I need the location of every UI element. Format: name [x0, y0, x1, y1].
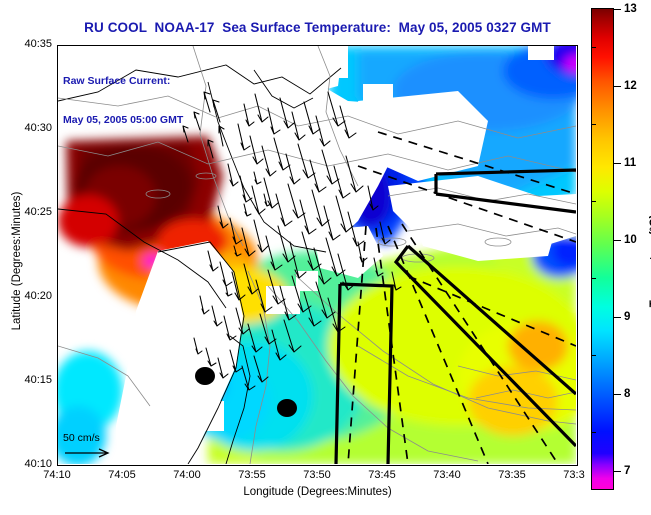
- x-tick-7: 73:35: [498, 469, 526, 481]
- x-tick-1: 74:05: [108, 469, 136, 481]
- colorbar-minor-tick-3: [591, 201, 596, 202]
- temperature-colorbar[interactable]: [591, 8, 614, 490]
- y-tick-2-text: 40:25: [24, 206, 52, 218]
- sst-raster-and-overlays: [58, 46, 576, 464]
- colorbar-tick-11: [614, 163, 621, 164]
- colorbar-label-11: 11: [624, 157, 636, 169]
- colorbar-label-8: 8: [624, 388, 630, 400]
- y-tick-3-text: 40:20: [24, 290, 52, 302]
- x-tick-8: 73:3: [563, 469, 584, 481]
- y-tick-0-text: 40:35: [24, 38, 52, 50]
- colorbar-label-9: 9: [624, 311, 630, 323]
- map-plot-area[interactable]: [57, 45, 578, 466]
- colorbar-label-13: 13: [624, 3, 637, 15]
- y-tick-4-text: 40:15: [24, 374, 52, 386]
- colorbar-minor-tick-4: [591, 278, 596, 279]
- x-tick-5: 73:45: [368, 469, 396, 481]
- x-tick-4: 73:50: [303, 469, 331, 481]
- colorbar-tick-8: [614, 394, 621, 395]
- x-tick-6: 73:40: [433, 469, 461, 481]
- colorbar-minor-tick-1: [591, 47, 596, 48]
- station-marker-2: [277, 399, 297, 417]
- x-axis-label: Longitude (Degrees:Minutes): [57, 486, 578, 498]
- y-tick-1-text: 40:30: [24, 122, 52, 134]
- colorbar-minor-tick-5: [591, 355, 596, 356]
- station-marker-1: [195, 367, 215, 385]
- colorbar-label-10: 10: [624, 234, 637, 246]
- y-axis-label: Latitude (Degrees:Minutes): [11, 161, 23, 361]
- vector-scale-bar: 50 cm/s: [63, 432, 115, 459]
- colorbar-label-12: 12: [624, 80, 637, 92]
- x-tick-3: 73:55: [238, 469, 266, 481]
- sst-map-figure: RU COOL NOAA-17 Sea Surface Temperature:…: [0, 0, 651, 515]
- colorbar-tick-9: [614, 317, 621, 318]
- colorbar-minor-tick-2: [591, 124, 596, 125]
- scale-bar-label: 50 cm/s: [63, 432, 115, 444]
- colorbar-label-7: 7: [624, 465, 630, 477]
- y-tick-5-text: 40:10: [24, 458, 52, 470]
- x-tick-0: 74:10: [43, 469, 71, 481]
- colorbar-tick-12: [614, 86, 621, 87]
- x-tick-2: 74:00: [173, 469, 201, 481]
- colorbar-tick-10: [614, 240, 621, 241]
- colorbar-minor-tick-6: [591, 432, 596, 433]
- arrow-right-icon: [63, 447, 115, 459]
- page-title: RU COOL NOAA-17 Sea Surface Temperature:…: [57, 20, 578, 35]
- colorbar-tick-7: [614, 471, 621, 472]
- colorbar-tick-13: [614, 9, 621, 10]
